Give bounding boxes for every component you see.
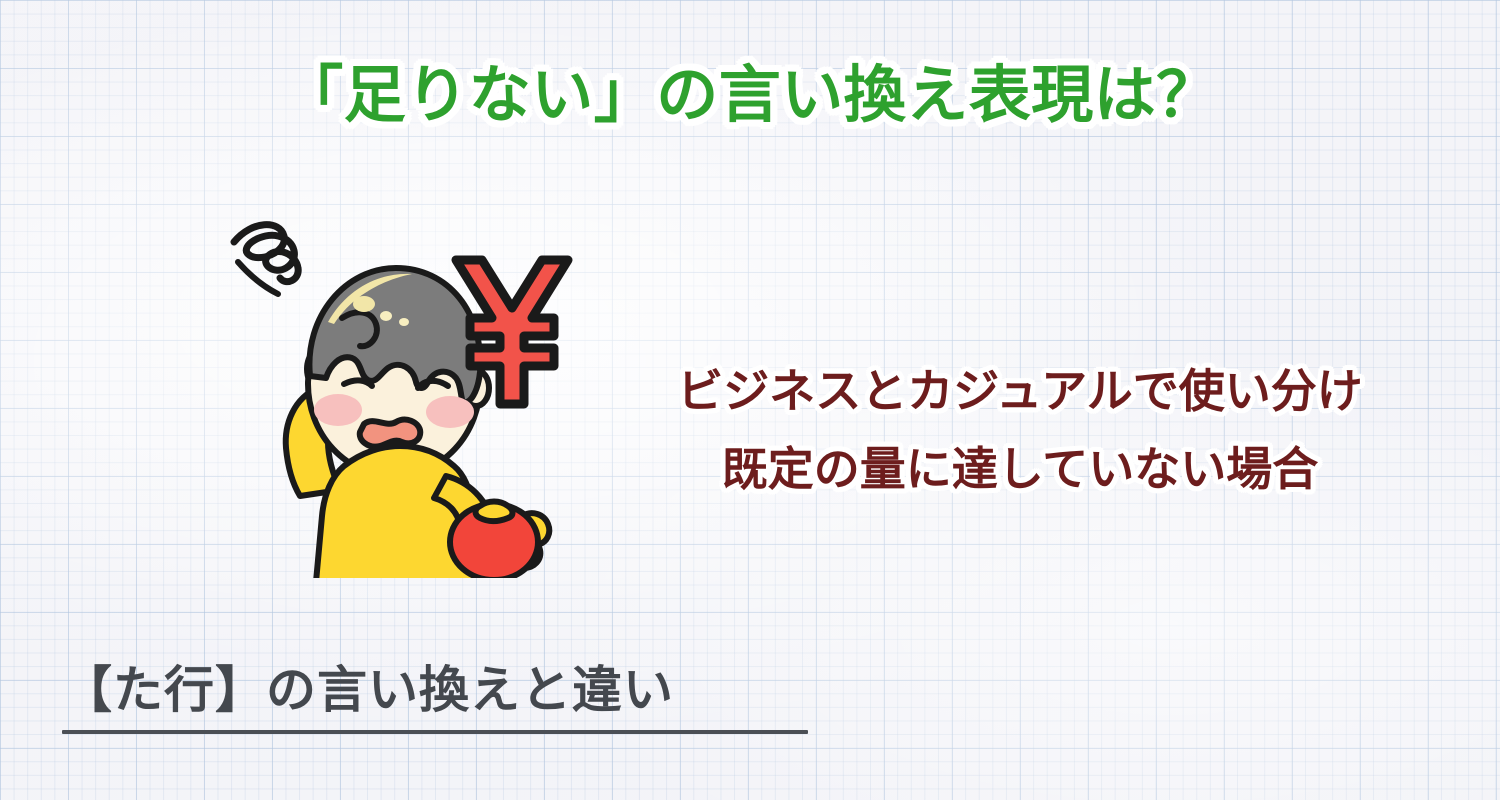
subtitle-line-1: ビジネスとカジュアルで使い分け: [640, 352, 1400, 430]
category-label: 【た行】の言い換えと違い: [62, 658, 808, 722]
illustration-worried-woman-with-coin-purse: [222, 198, 582, 578]
frustration-scribble-icon: [234, 225, 298, 294]
footer-underline: [62, 730, 808, 734]
poster-canvas: 「足りない」の言い換え表現は？: [0, 0, 1500, 800]
category-footer: 【た行】の言い換えと違い: [62, 658, 808, 734]
coin-purse: [450, 502, 549, 579]
page-title: 「足りない」の言い換え表現は？: [0, 44, 1500, 134]
subtitle-block: ビジネスとカジュアルで使い分け 既定の量に達していない場合: [640, 352, 1400, 508]
subtitle-line-2: 既定の量に達していない場合: [640, 430, 1400, 508]
open-mouth: [360, 420, 421, 447]
